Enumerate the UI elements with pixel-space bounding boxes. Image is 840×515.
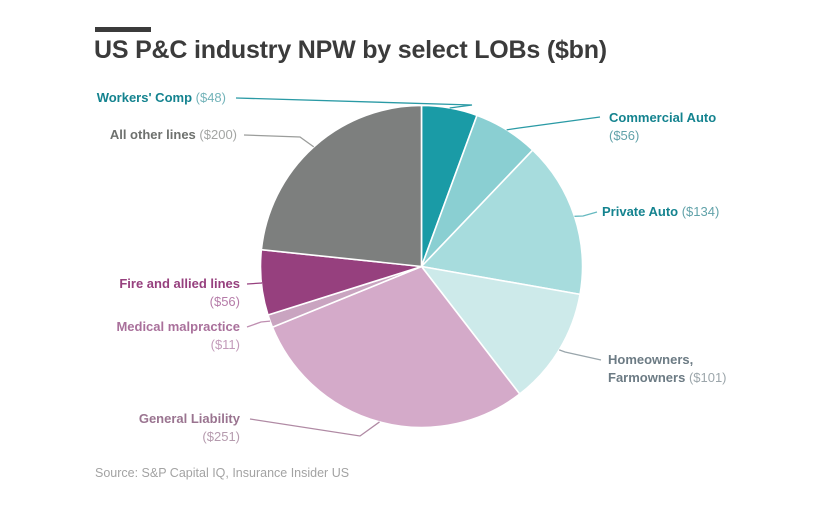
label-workers-comp: Workers' Comp ($48) bbox=[0, 89, 226, 107]
label-workers-comp-name: Workers' Comp bbox=[97, 90, 192, 105]
label-homeowners-name-line2: Farmowners bbox=[608, 370, 685, 385]
label-private-auto-name: Private Auto bbox=[602, 204, 678, 219]
label-fire-allied-lines-name: Fire and allied lines bbox=[119, 276, 240, 291]
label-all-other-lines-value: ($200) bbox=[199, 127, 237, 142]
leader-line bbox=[574, 212, 597, 216]
pie-slice-group bbox=[261, 105, 583, 427]
label-medical-malpractice: Medical malpractice ($11) bbox=[0, 318, 240, 354]
label-homeowners-farmowners: Homeowners, Farmowners ($101) bbox=[608, 351, 834, 387]
label-fire-allied-lines-value: ($56) bbox=[210, 294, 240, 309]
leader-line bbox=[559, 350, 601, 360]
source-note: Source: S&P Capital IQ, Insurance Inside… bbox=[95, 466, 349, 480]
label-medical-malpractice-name: Medical malpractice bbox=[116, 319, 240, 334]
label-commercial-auto: Commercial Auto ($56) bbox=[609, 109, 834, 145]
label-medical-malpractice-value: ($11) bbox=[211, 337, 240, 352]
label-commercial-auto-name: Commercial Auto bbox=[609, 110, 716, 125]
leader-line bbox=[244, 135, 314, 147]
chart-canvas: US P&C industry NPW by select LOBs ($bn)… bbox=[0, 0, 840, 515]
pie-slice bbox=[261, 105, 421, 266]
label-general-liability-value: ($251) bbox=[202, 429, 240, 444]
label-private-auto: Private Auto ($134) bbox=[602, 203, 832, 221]
leader-line bbox=[250, 419, 379, 436]
label-private-auto-value: ($134) bbox=[682, 204, 720, 219]
label-general-liability: General Liability ($251) bbox=[0, 410, 240, 446]
label-homeowners-value: ($101) bbox=[689, 370, 727, 385]
label-general-liability-name: General Liability bbox=[139, 411, 240, 426]
leader-line bbox=[247, 283, 262, 284]
label-homeowners-name-line1: Homeowners, bbox=[608, 352, 693, 367]
label-commercial-auto-value: ($56) bbox=[609, 128, 639, 143]
leader-line bbox=[247, 321, 270, 327]
label-fire-allied-lines: Fire and allied lines ($56) bbox=[0, 275, 240, 311]
label-all-other-lines: All other lines ($200) bbox=[0, 126, 237, 144]
label-workers-comp-value: ($48) bbox=[196, 90, 226, 105]
label-all-other-lines-name: All other lines bbox=[110, 127, 196, 142]
leader-line bbox=[507, 117, 600, 130]
